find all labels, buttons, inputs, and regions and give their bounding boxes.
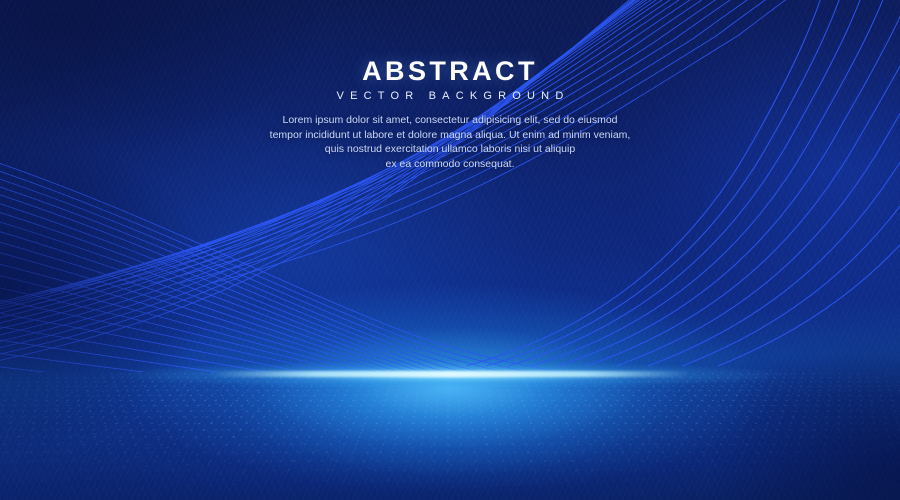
abstract-background-canvas: ABSTRACT VECTOR BACKGROUND Lorem ipsum d… bbox=[0, 0, 900, 500]
paragraph-line-2: tempor incididunt ut labore et dolore ma… bbox=[0, 128, 900, 143]
paragraph-line-3: quis nostrud exercitation ullamco labori… bbox=[0, 142, 900, 157]
headline-copy-block: ABSTRACT VECTOR BACKGROUND Lorem ipsum d… bbox=[0, 56, 900, 171]
paragraph-line-1: Lorem ipsum dolor sit amet, consectetur … bbox=[0, 113, 900, 128]
page-subtitle: VECTOR BACKGROUND bbox=[0, 89, 900, 103]
page-title: ABSTRACT bbox=[0, 56, 900, 86]
body-paragraph: Lorem ipsum dolor sit amet, consectetur … bbox=[0, 113, 900, 171]
paragraph-line-4: ex ea commodo consequat. bbox=[0, 157, 900, 172]
